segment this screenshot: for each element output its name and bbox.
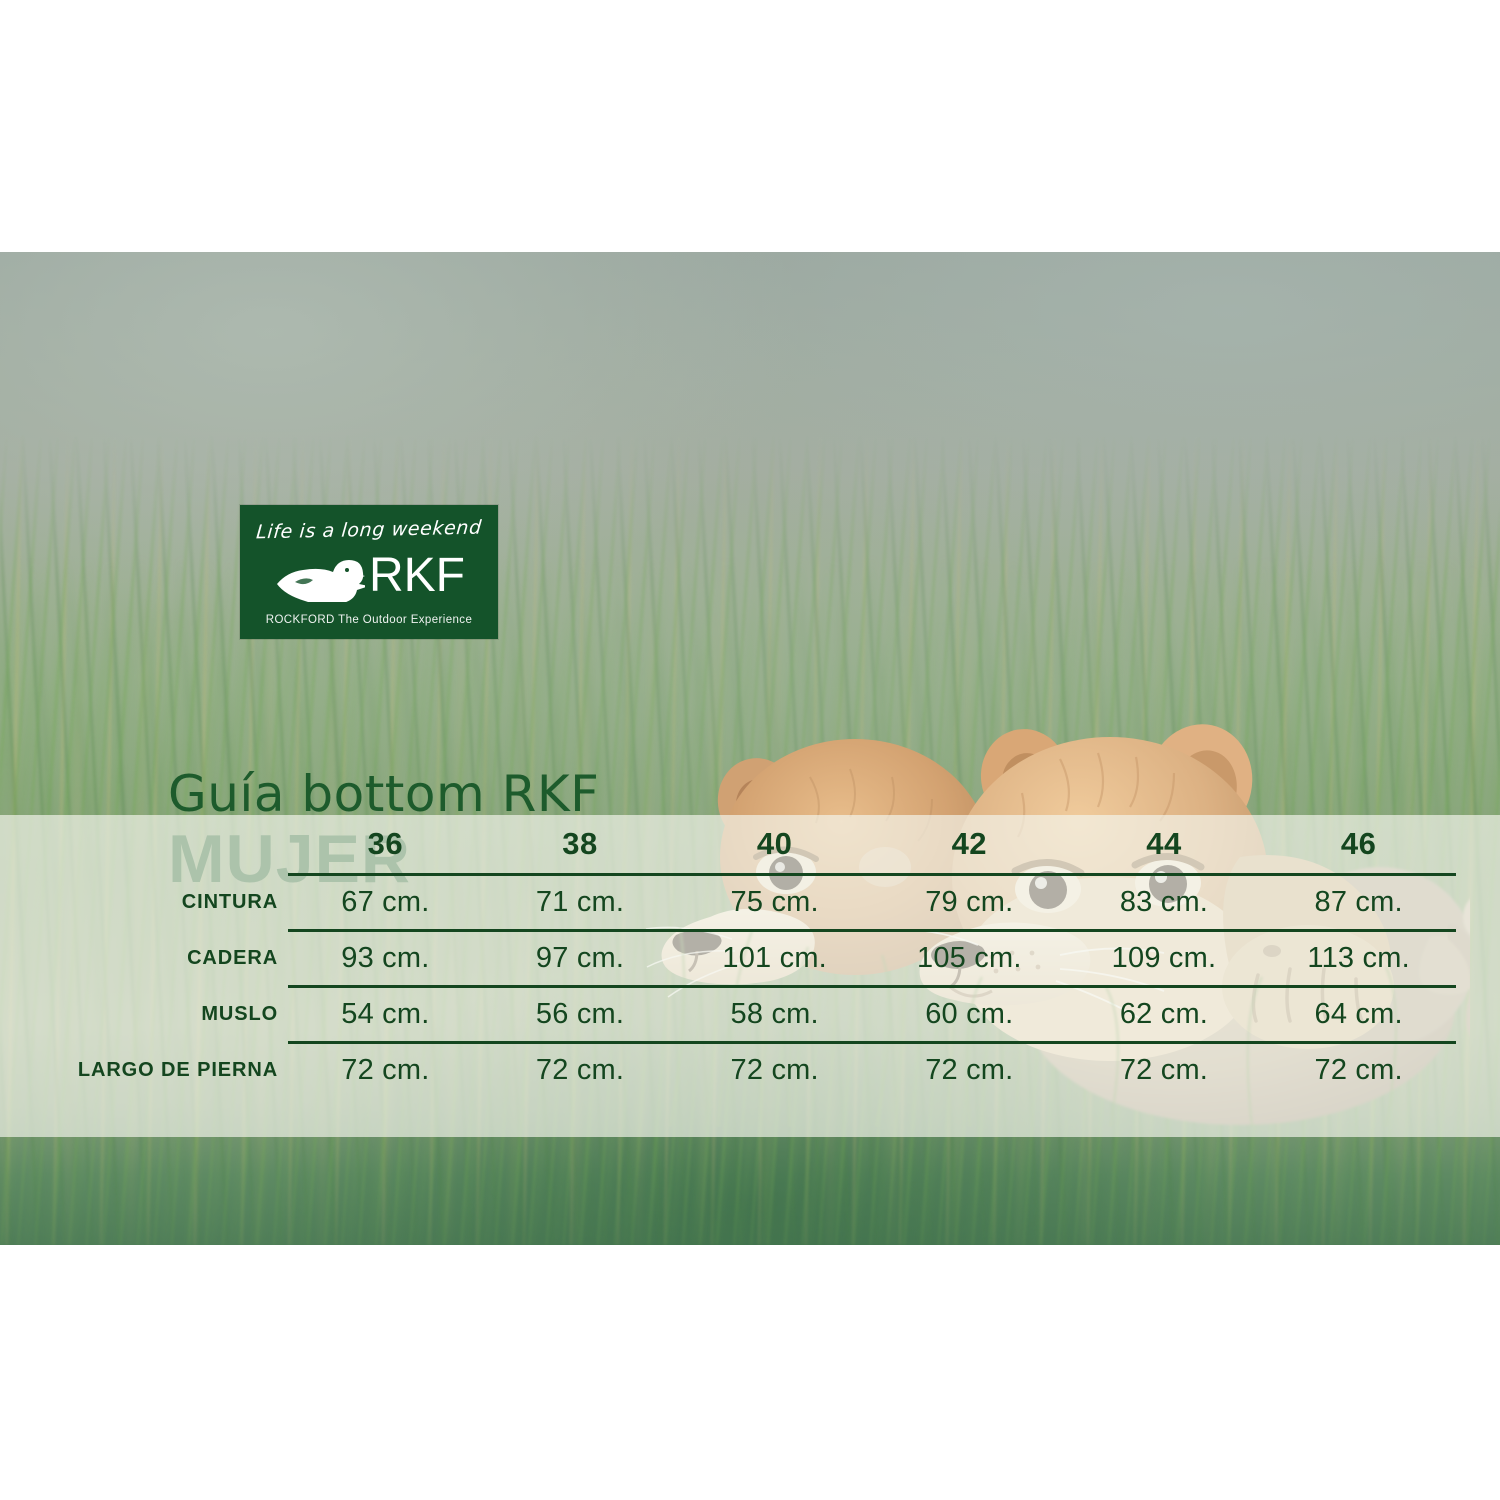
size-guide-poster: Life is a long weekend RKF ROCKFORD The … (0, 252, 1500, 1245)
muslo-38: 56 cm. (483, 987, 678, 1043)
cintura-36: 67 cm. (288, 875, 483, 931)
size-header-label (38, 815, 288, 875)
table-row: LARGO DE PIERNA 72 cm. 72 cm. 72 cm. 72 … (38, 1043, 1456, 1098)
table-row: CADERA 93 cm. 97 cm. 101 cm. 105 cm. 109… (38, 931, 1456, 987)
size-header-44: 44 (1067, 815, 1262, 875)
cadera-46: 113 cm. (1261, 931, 1456, 987)
page-canvas: Life is a long weekend RKF ROCKFORD The … (0, 0, 1500, 1500)
row-label-muslo: MUSLO (38, 987, 288, 1043)
size-header-36: 36 (288, 815, 483, 875)
cintura-38: 71 cm. (483, 875, 678, 931)
largo-40: 72 cm. (677, 1043, 872, 1098)
muslo-46: 64 cm. (1261, 987, 1456, 1043)
duck-icon (273, 550, 365, 602)
largo-44: 72 cm. (1067, 1043, 1262, 1098)
size-header-40: 40 (677, 815, 872, 875)
largo-46: 72 cm. (1261, 1043, 1456, 1098)
title-line-1: Guía bottom RKF (168, 768, 728, 821)
logo-main-row: RKF (240, 547, 498, 605)
rkf-logo: Life is a long weekend RKF ROCKFORD The … (240, 505, 498, 639)
table-header-row: 36 38 40 42 44 46 (38, 815, 1456, 875)
muslo-36: 54 cm. (288, 987, 483, 1043)
table-row: MUSLO 54 cm. 56 cm. 58 cm. 60 cm. 62 cm.… (38, 987, 1456, 1043)
size-table-wrapper: 36 38 40 42 44 46 CINTURA 67 cm. 71 cm. … (0, 815, 1500, 1137)
cadera-36: 93 cm. (288, 931, 483, 987)
cintura-42: 79 cm. (872, 875, 1067, 931)
cadera-40: 101 cm. (677, 931, 872, 987)
size-table: 36 38 40 42 44 46 CINTURA 67 cm. 71 cm. … (38, 815, 1456, 1097)
cadera-44: 109 cm. (1067, 931, 1262, 987)
logo-tagline: Life is a long weekend (239, 516, 499, 543)
row-label-cintura: CINTURA (38, 875, 288, 931)
cintura-46: 87 cm. (1261, 875, 1456, 931)
row-label-cadera: CADERA (38, 931, 288, 987)
muslo-44: 62 cm. (1067, 987, 1262, 1043)
largo-36: 72 cm. (288, 1043, 483, 1098)
cadera-38: 97 cm. (483, 931, 678, 987)
muslo-42: 60 cm. (872, 987, 1067, 1043)
size-header-42: 42 (872, 815, 1067, 875)
cintura-40: 75 cm. (677, 875, 872, 931)
cadera-42: 105 cm. (872, 931, 1067, 987)
logo-subtitle: ROCKFORD The Outdoor Experience (240, 614, 498, 626)
logo-wordmark: RKF (369, 552, 465, 600)
size-header-38: 38 (483, 815, 678, 875)
size-header-46: 46 (1261, 815, 1456, 875)
muslo-40: 58 cm. (677, 987, 872, 1043)
largo-38: 72 cm. (483, 1043, 678, 1098)
table-row: CINTURA 67 cm. 71 cm. 75 cm. 79 cm. 83 c… (38, 875, 1456, 931)
largo-42: 72 cm. (872, 1043, 1067, 1098)
row-label-largo-de-pierna: LARGO DE PIERNA (38, 1043, 288, 1098)
cintura-44: 83 cm. (1067, 875, 1262, 931)
